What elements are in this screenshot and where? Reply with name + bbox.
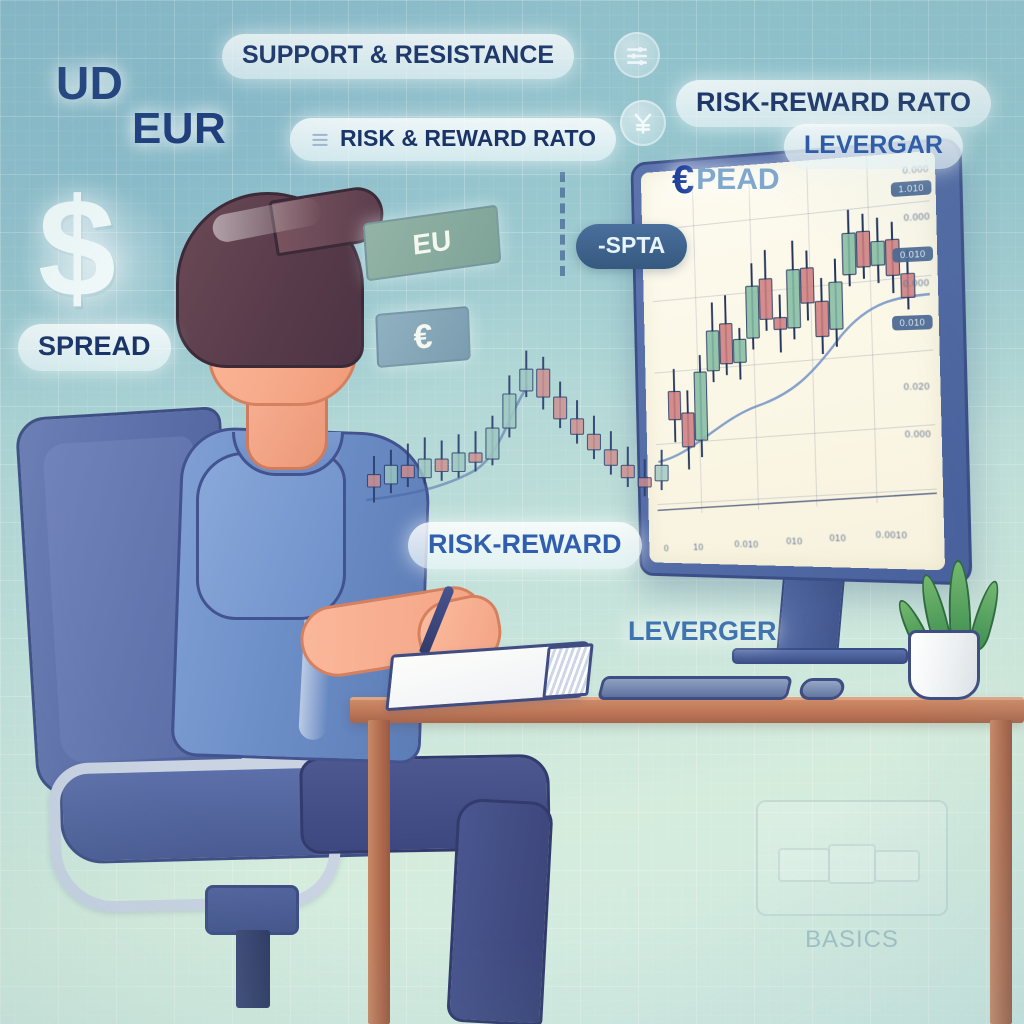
price-tick-2: 0.000 bbox=[903, 277, 929, 288]
person-sleeve bbox=[196, 452, 346, 620]
pill-risk-reward-ratio-top-label: RISK-REWARD RATO bbox=[696, 87, 971, 118]
pill-risk-reward-center[interactable]: RISK-REWARD bbox=[408, 522, 642, 569]
pill-risk-reward-center-label: RISK-REWARD bbox=[428, 529, 622, 560]
poster-bill-3 bbox=[874, 850, 920, 882]
price-tick-1: 0.000 bbox=[904, 211, 930, 223]
label-spread-euro: € PEAD bbox=[672, 160, 780, 200]
pill-risk-reward-ratio-label: RISK & REWARD RATO bbox=[340, 125, 596, 152]
person-lower-leg bbox=[446, 798, 554, 1024]
plant-pot bbox=[908, 630, 980, 700]
mouse[interactable] bbox=[798, 678, 847, 700]
desk-leg-left bbox=[368, 720, 390, 1024]
price-tick-3: 0.020 bbox=[904, 381, 930, 392]
poster-bill-2 bbox=[828, 844, 876, 884]
desk-leg-right bbox=[990, 720, 1012, 1024]
euro-icon: € bbox=[672, 160, 694, 200]
sliders-icon[interactable] bbox=[614, 32, 660, 78]
poster-bill-1 bbox=[778, 848, 830, 882]
office-chair-post bbox=[236, 930, 270, 1008]
eu-banknote-label: EU bbox=[412, 224, 453, 261]
pill-spread-left-label: SPREAD bbox=[38, 331, 151, 362]
time-tick-0: 0 bbox=[664, 543, 669, 553]
time-tick-5: 0.0010 bbox=[876, 530, 908, 541]
badge-spread[interactable]: -SPTA bbox=[576, 224, 687, 269]
eu-banknote: EU bbox=[363, 205, 502, 282]
badge-spread-label: -SPTA bbox=[598, 232, 665, 259]
time-tick-1: 10 bbox=[693, 542, 704, 552]
pill-risk-reward-ratio-top[interactable]: RISK-REWARD RATO bbox=[676, 80, 991, 127]
euro-banknote-label: € bbox=[413, 317, 433, 358]
dollar-sign-icon: $ bbox=[38, 178, 116, 318]
sliders-small-icon bbox=[310, 129, 330, 149]
pill-support-resistance[interactable]: SUPPORT & RESISTANCE bbox=[222, 34, 574, 79]
monitor-base bbox=[732, 648, 908, 664]
illustration-canvas: 0.000 1.010 0.000 0.010 0.000 0.010 0.02… bbox=[0, 0, 1024, 1024]
dashed-connector bbox=[560, 172, 565, 276]
label-usd: UD bbox=[56, 56, 123, 110]
pill-leverage-top-label: LEVERGAR bbox=[804, 131, 943, 160]
label-spread-euro-text: PEAD bbox=[696, 163, 779, 197]
label-eur: EUR bbox=[132, 104, 226, 154]
time-tick-2: 0.010 bbox=[734, 539, 758, 549]
pill-leverage-top[interactable]: LEVERGAR bbox=[784, 124, 963, 169]
yen-plant-icon[interactable] bbox=[620, 100, 666, 146]
pill-spread-left[interactable]: SPREAD bbox=[18, 324, 171, 371]
time-tick-3: 010 bbox=[786, 536, 803, 546]
overlay-candles bbox=[368, 351, 669, 503]
notebook-pages bbox=[542, 643, 593, 699]
basics-poster-label: BASICS bbox=[756, 926, 948, 954]
price-badge-last: 0.010 bbox=[892, 315, 933, 331]
pill-support-resistance-label: SUPPORT & RESISTANCE bbox=[242, 41, 554, 70]
price-tick-4: 0.000 bbox=[905, 429, 932, 440]
price-badge-ask: 0.010 bbox=[893, 246, 934, 263]
pill-risk-reward-ratio[interactable]: RISK & REWARD RATO bbox=[290, 118, 616, 161]
time-tick-4: 010 bbox=[829, 533, 846, 543]
chart-candles bbox=[664, 206, 919, 470]
office-chair-stem bbox=[205, 885, 299, 935]
euro-banknote: € bbox=[375, 306, 471, 368]
label-leverage-bottom: LEVERGER bbox=[628, 616, 777, 647]
basics-poster: BASICS bbox=[756, 800, 948, 950]
keyboard[interactable] bbox=[597, 676, 793, 700]
price-badge-bid: 1.010 bbox=[891, 180, 932, 197]
